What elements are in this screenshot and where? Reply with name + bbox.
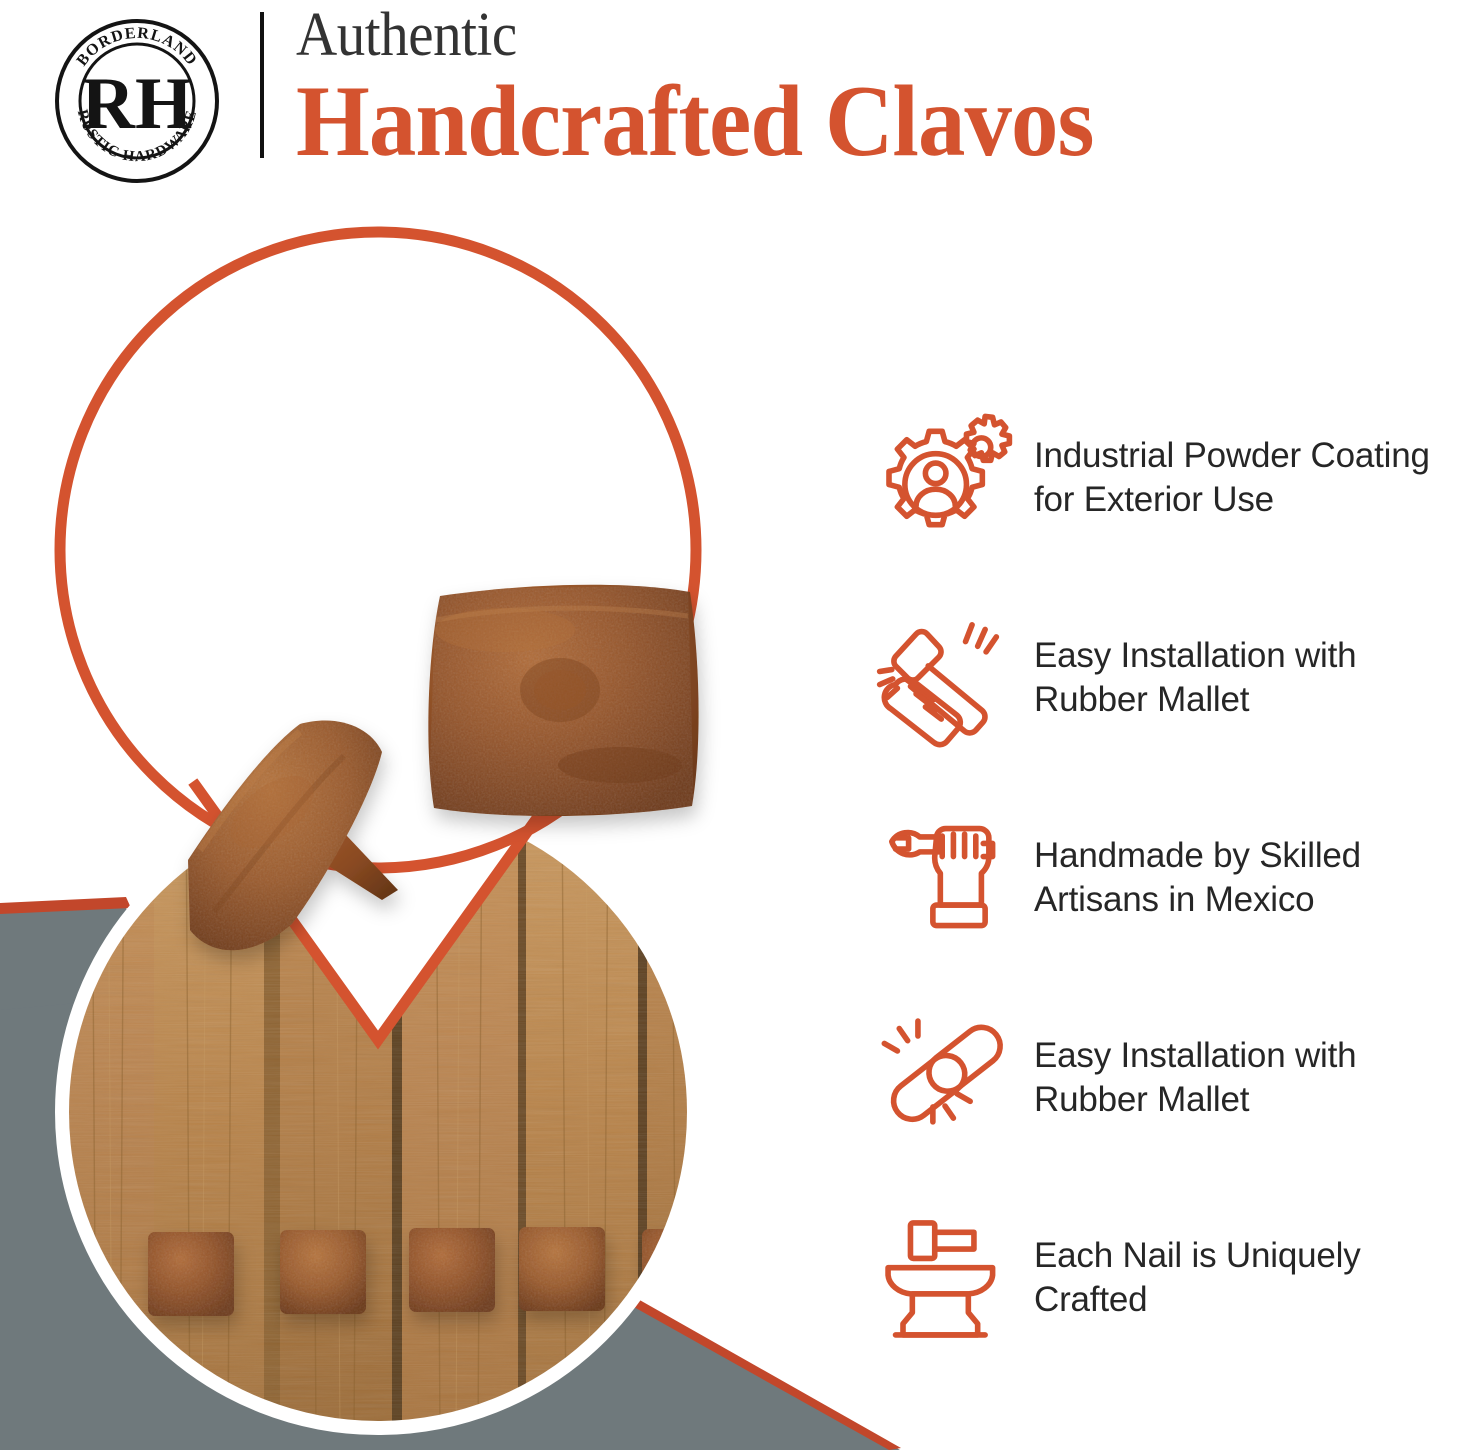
- feature-label: Industrial Powder Coating for Exterior U…: [1034, 434, 1474, 522]
- feature-item: Each Nail is Uniquely Crafted: [856, 1178, 1476, 1378]
- infographic-page: BORDERLAND RUSTIC HARDWARE RH Authentic …: [0, 0, 1477, 1450]
- header: BORDERLAND RUSTIC HARDWARE RH Authentic …: [0, 0, 1477, 195]
- feature-item: Industrial Powder Coating for Exterior U…: [856, 378, 1476, 578]
- borderland-rustic-hardware-seal-icon: BORDERLAND RUSTIC HARDWARE RH: [52, 16, 222, 186]
- title-block: Authentic Handcrafted Clavos: [296, 2, 1416, 174]
- feature-label: Each Nail is Uniquely Crafted: [1034, 1234, 1474, 1322]
- page-title: Handcrafted Clavos: [296, 70, 1338, 174]
- feature-item: Easy Installation with Rubber Mallet: [856, 978, 1476, 1178]
- feature-item: Handmade by Skilled Artisans in Mexico: [856, 778, 1476, 978]
- logo-monogram: RH: [82, 63, 193, 145]
- feature-label: Easy Installation with Rubber Mallet: [1034, 634, 1474, 722]
- feature-item: Easy Installation with Rubber Mallet: [856, 578, 1476, 778]
- header-divider: [260, 12, 264, 158]
- fist-wrench-icon: [856, 793, 1034, 963]
- product-visual: [0, 200, 840, 1450]
- gear-person-icon: [856, 393, 1034, 563]
- anvil-hammer-icon: [856, 1193, 1034, 1363]
- page-subtitle: Authentic: [296, 2, 1326, 68]
- clavo-head-front: [428, 585, 698, 816]
- feature-list: Industrial Powder Coating for Exterior U…: [856, 378, 1476, 1378]
- hand-hammer-icon: [856, 593, 1034, 763]
- feature-label: Easy Installation with Rubber Mallet: [1034, 1034, 1474, 1122]
- product-visual-graphic: [0, 200, 840, 1450]
- chain-links-icon: [856, 993, 1034, 1163]
- feature-label: Handmade by Skilled Artisans in Mexico: [1034, 834, 1474, 922]
- brand-logo: BORDERLAND RUSTIC HARDWARE RH: [52, 16, 222, 186]
